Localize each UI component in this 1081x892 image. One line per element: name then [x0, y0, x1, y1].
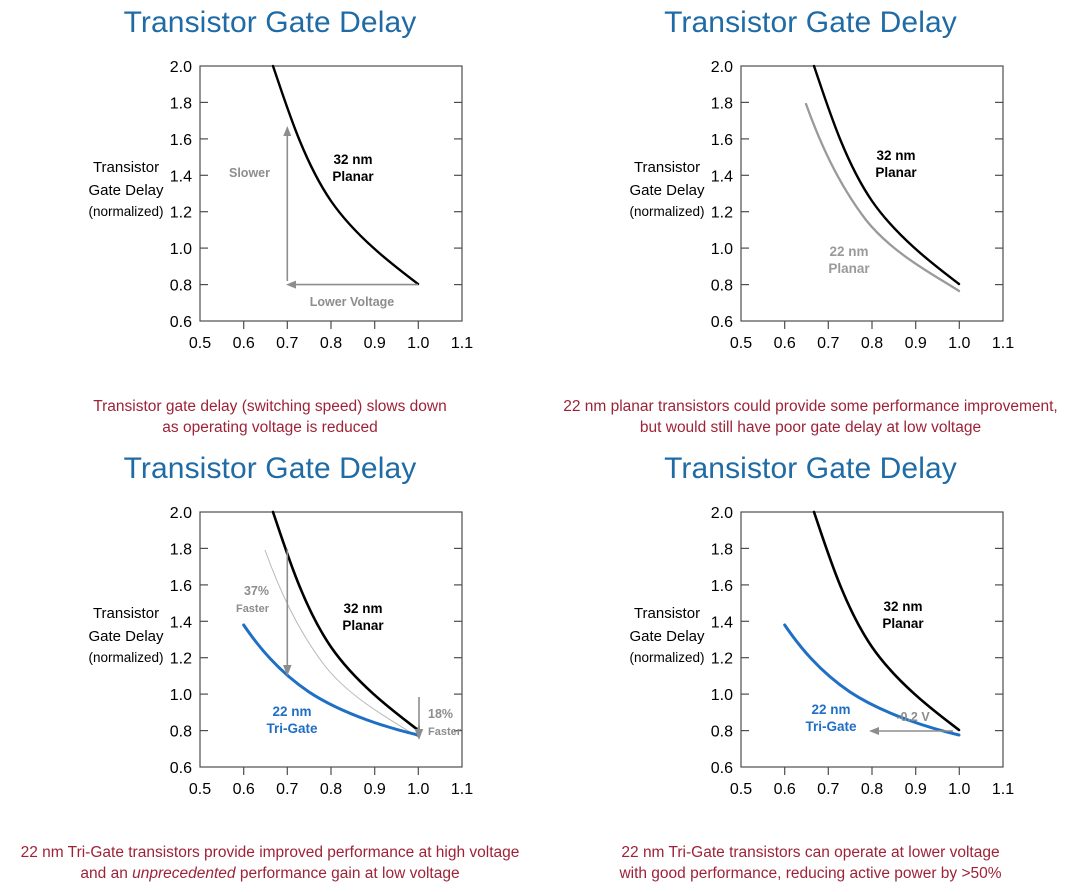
x-tick-label: 0.7 [276, 781, 298, 794]
chart-panel-3: 2.0 1.8 1.6 1.4 1.2 1.0 0.8 0.6 0.5 0.6 … [0, 494, 540, 794]
series-label-32nm-line1: 32 nm [876, 148, 915, 163]
y-tick-label: 1.4 [710, 168, 732, 185]
chart-panel-4: 2.0 1.8 1.6 1.4 1.2 1.0 0.8 0.6 0.5 0.6 … [540, 494, 1081, 794]
page-title: Transistor Gate Delay [0, 452, 540, 486]
caption-line-1: 22 nm Tri-Gate transistors provide impro… [6, 842, 534, 863]
annotation-18pct-line1: 18% [428, 707, 453, 721]
series-label-22nm-planar-line2: Planar [828, 261, 870, 276]
slide-grid: Transistor Gate Delay [0, 0, 1081, 892]
y-tick-label: 1.6 [710, 578, 732, 595]
caption-line-2-a: and an [80, 865, 132, 882]
x-tick-label: 0.6 [233, 781, 255, 794]
caption-line-2: but would still have poor gate delay at … [546, 417, 1075, 438]
panel-1: Transistor Gate Delay [0, 0, 540, 446]
y-tick-label: 1.0 [170, 687, 192, 704]
y-tick-label: 1.2 [170, 205, 192, 222]
y-tick-label: 1.0 [710, 241, 732, 258]
y-tick-label: 1.6 [170, 132, 192, 149]
panel-2: Transistor Gate Delay [540, 0, 1081, 446]
chart-panel-1: 2.0 1.8 1.6 1.4 1.2 1.0 0.8 0.6 0.5 0.6 … [0, 48, 540, 348]
x-tick-label: 0.5 [189, 781, 211, 794]
series-label-32nm-line1: 32 nm [333, 152, 372, 167]
chart-svg-1: 2.0 1.8 1.6 1.4 1.2 1.0 0.8 0.6 0.5 0.6 … [40, 48, 500, 348]
plot-frame [200, 66, 462, 321]
y-tick-label: 1.8 [710, 541, 732, 558]
y-tick-label: 1.8 [170, 95, 192, 112]
y-tick-label: 1.4 [170, 168, 192, 185]
panel-caption-2: 22 nm planar transistors could provide s… [540, 396, 1081, 438]
plot-frame [200, 512, 462, 767]
caption-line-1: 22 nm planar transistors could provide s… [546, 396, 1075, 417]
y-tick-label: 1.4 [170, 614, 192, 631]
y-axis-label-line2: Gate Delay [88, 628, 164, 645]
caption-line-2: and an unprecedented performance gain at… [6, 863, 534, 884]
series-label-32nm-line2: Planar [332, 169, 374, 184]
x-tick-label: 0.9 [364, 335, 386, 348]
panel-caption-4: 22 nm Tri-Gate transistors can operate a… [540, 842, 1081, 884]
x-tick-label: 0.6 [773, 335, 795, 348]
x-tick-label: 0.5 [189, 335, 211, 348]
y-tick-label: 1.0 [170, 241, 192, 258]
x-tick-label: 0.7 [817, 781, 839, 794]
series-label-22nm-trigate-line2: Tri-Gate [805, 719, 857, 734]
y-tick-label: 2.0 [170, 59, 192, 76]
series-label-22nm-trigate-line2: Tri-Gate [266, 721, 318, 736]
y-tick-label: 0.8 [710, 278, 732, 295]
x-tick-label: 0.5 [729, 781, 751, 794]
x-tick-label: 1.0 [407, 335, 429, 348]
page-title: Transistor Gate Delay [0, 6, 540, 40]
chart-svg-4: 2.0 1.8 1.6 1.4 1.2 1.0 0.8 0.6 0.5 0.6 … [581, 494, 1041, 794]
panel-caption-3: 22 nm Tri-Gate transistors provide impro… [0, 842, 540, 884]
y-tick-label: 0.6 [710, 760, 732, 777]
annotation-voltage-delta-label: -0.2 V [896, 710, 930, 724]
page-title: Transistor Gate Delay [540, 6, 1081, 40]
y-tick-label: 1.6 [710, 132, 732, 149]
y-tick-label: 1.2 [710, 205, 732, 222]
x-tick-label: 1.0 [948, 781, 970, 794]
annotation-18pct-line2: Faster [428, 726, 462, 738]
x-tick-marks [784, 321, 959, 329]
x-tick-marks [784, 767, 959, 775]
y-tick-label: 0.8 [170, 724, 192, 741]
x-tick-label: 0.9 [904, 781, 926, 794]
x-tick-label: 0.8 [320, 781, 342, 794]
panel-3: Transistor Gate Delay [0, 446, 540, 892]
y-tick-label: 0.8 [170, 278, 192, 295]
y-tick-label: 1.2 [170, 651, 192, 668]
y-axis-label-line1: Transistor [633, 159, 699, 176]
y-tick-label: 1.2 [710, 651, 732, 668]
annotation-slower-label: Slower [229, 166, 270, 180]
y-axis-label-line2: Gate Delay [629, 182, 705, 199]
y-axis-label-line1: Transistor [93, 159, 159, 176]
x-tick-label: 0.9 [904, 335, 926, 348]
x-tick-label: 0.5 [729, 335, 751, 348]
annotation-37pct-line1: 37% [244, 584, 269, 598]
x-tick-label: 0.6 [233, 335, 255, 348]
y-tick-label: 2.0 [710, 505, 732, 522]
page-title: Transistor Gate Delay [540, 452, 1081, 486]
x-tick-marks [244, 767, 419, 775]
x-tick-label: 0.9 [364, 781, 386, 794]
series-label-22nm-planar-line1: 22 nm [829, 244, 868, 259]
x-tick-label: 0.8 [860, 335, 882, 348]
x-tick-label: 1.0 [948, 335, 970, 348]
panel-4: Transistor Gate Delay [540, 446, 1081, 892]
plot-frame [741, 66, 1003, 321]
panel-caption-1: Transistor gate delay (switching speed) … [0, 396, 540, 438]
annotation-37pct-line2: Faster [236, 603, 270, 615]
y-tick-label: 1.0 [710, 687, 732, 704]
series-label-22nm-trigate-line1: 22 nm [272, 704, 311, 719]
y-axis-label-line3: (normalized) [629, 650, 704, 665]
series-label-32nm-line1: 32 nm [883, 599, 922, 614]
caption-line-2: with good performance, reducing active p… [546, 863, 1075, 884]
x-tick-label: 1.1 [991, 335, 1013, 348]
series-label-32nm-line1: 32 nm [343, 601, 382, 616]
x-tick-label: 0.7 [276, 335, 298, 348]
y-tick-label: 0.6 [170, 314, 192, 331]
y-tick-label: 2.0 [170, 505, 192, 522]
y-axis-label-line2: Gate Delay [629, 628, 705, 645]
chart-svg-2: 2.0 1.8 1.6 1.4 1.2 1.0 0.8 0.6 0.5 0.6 … [581, 48, 1041, 348]
chart-panel-2: 2.0 1.8 1.6 1.4 1.2 1.0 0.8 0.6 0.5 0.6 … [540, 48, 1081, 348]
y-axis-label-line3: (normalized) [88, 650, 163, 665]
chart-svg-3: 2.0 1.8 1.6 1.4 1.2 1.0 0.8 0.6 0.5 0.6 … [40, 494, 500, 794]
x-tick-label: 1.1 [451, 781, 473, 794]
x-tick-label: 0.8 [320, 335, 342, 348]
y-tick-label: 2.0 [710, 59, 732, 76]
y-axis-label-line3: (normalized) [629, 204, 704, 219]
x-tick-label: 1.0 [407, 781, 429, 794]
y-tick-label: 0.6 [710, 314, 732, 331]
caption-line-2-emphasis: unprecedented [132, 865, 235, 882]
y-axis-label-line1: Transistor [633, 605, 699, 622]
y-tick-label: 1.8 [170, 541, 192, 558]
y-tick-label: 0.8 [710, 724, 732, 741]
x-tick-label: 0.6 [773, 781, 795, 794]
x-tick-label: 0.8 [860, 781, 882, 794]
y-tick-label: 1.6 [170, 578, 192, 595]
plot-frame [741, 512, 1003, 767]
series-label-22nm-trigate-line1: 22 nm [811, 702, 850, 717]
caption-line-2: as operating voltage is reduced [6, 417, 534, 438]
caption-line-1: 22 nm Tri-Gate transistors can operate a… [546, 842, 1075, 863]
annotation-lower-voltage-label: Lower Voltage [310, 295, 395, 309]
x-tick-label: 0.7 [817, 335, 839, 348]
caption-line-1: Transistor gate delay (switching speed) … [6, 396, 534, 417]
y-axis-label-line2: Gate Delay [88, 182, 164, 199]
y-axis-label-line1: Transistor [93, 605, 159, 622]
series-label-32nm-line2: Planar [875, 165, 917, 180]
series-label-32nm-line2: Planar [342, 618, 384, 633]
series-label-32nm-line2: Planar [882, 616, 924, 631]
y-tick-label: 0.6 [170, 760, 192, 777]
x-tick-label: 1.1 [991, 781, 1013, 794]
y-tick-label: 1.8 [710, 95, 732, 112]
x-tick-marks [244, 321, 419, 329]
x-tick-label: 1.1 [451, 335, 473, 348]
y-axis-label-line3: (normalized) [88, 204, 163, 219]
caption-line-2-b: performance gain at low voltage [236, 865, 460, 882]
y-tick-label: 1.4 [710, 614, 732, 631]
